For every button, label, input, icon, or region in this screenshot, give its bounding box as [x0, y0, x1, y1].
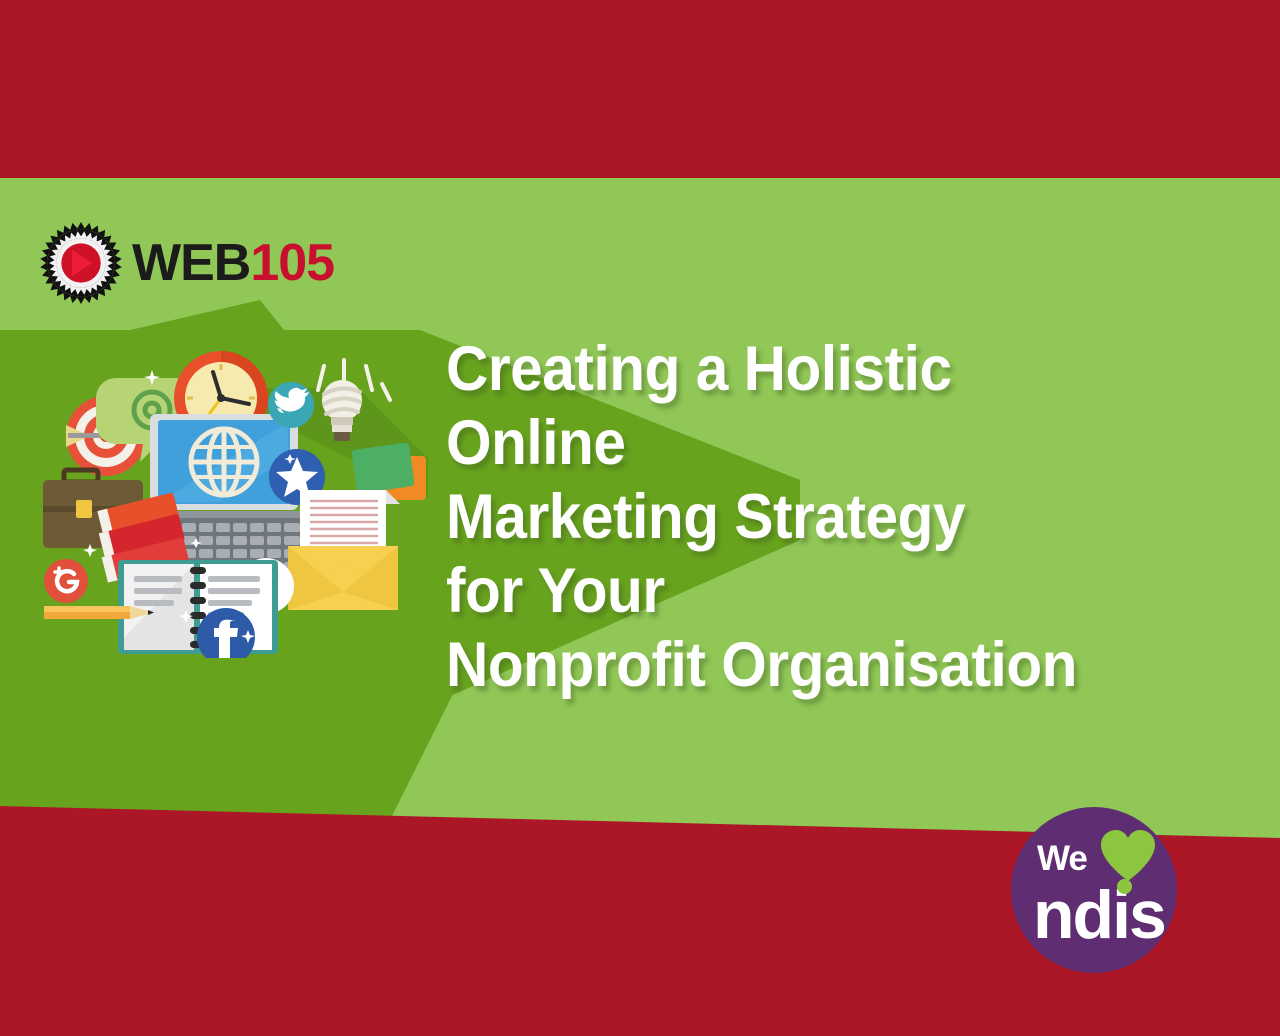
title-line-1: Creating a Holistic: [446, 332, 1153, 406]
title-line-4: for Your: [446, 554, 1153, 628]
web105-wordmark: WEB105: [132, 237, 334, 289]
title-line-2: Online: [446, 406, 1153, 480]
ndis-wordmark: ndis: [1033, 881, 1165, 949]
logo-text-105: 105: [250, 234, 334, 292]
ndis-we-label: We: [1037, 841, 1087, 876]
slide-canvas: WEB105: [0, 0, 1280, 1036]
logo-text-web: WEB: [132, 234, 250, 292]
we-love-ndis-badge[interactable]: We ndis: [1011, 807, 1177, 973]
page-title: Creating a Holistic Online Marketing Str…: [446, 332, 1153, 702]
title-line-3: Marketing Strategy: [446, 480, 1153, 554]
ndis-i-dot: [1117, 879, 1132, 894]
starburst-play-icon: [40, 222, 122, 304]
heart-icon: [1099, 829, 1157, 883]
web105-logo[interactable]: WEB105: [40, 222, 334, 304]
title-line-5: Nonprofit Organisation: [446, 628, 1153, 702]
digital-marketing-illustration: [38, 348, 428, 658]
